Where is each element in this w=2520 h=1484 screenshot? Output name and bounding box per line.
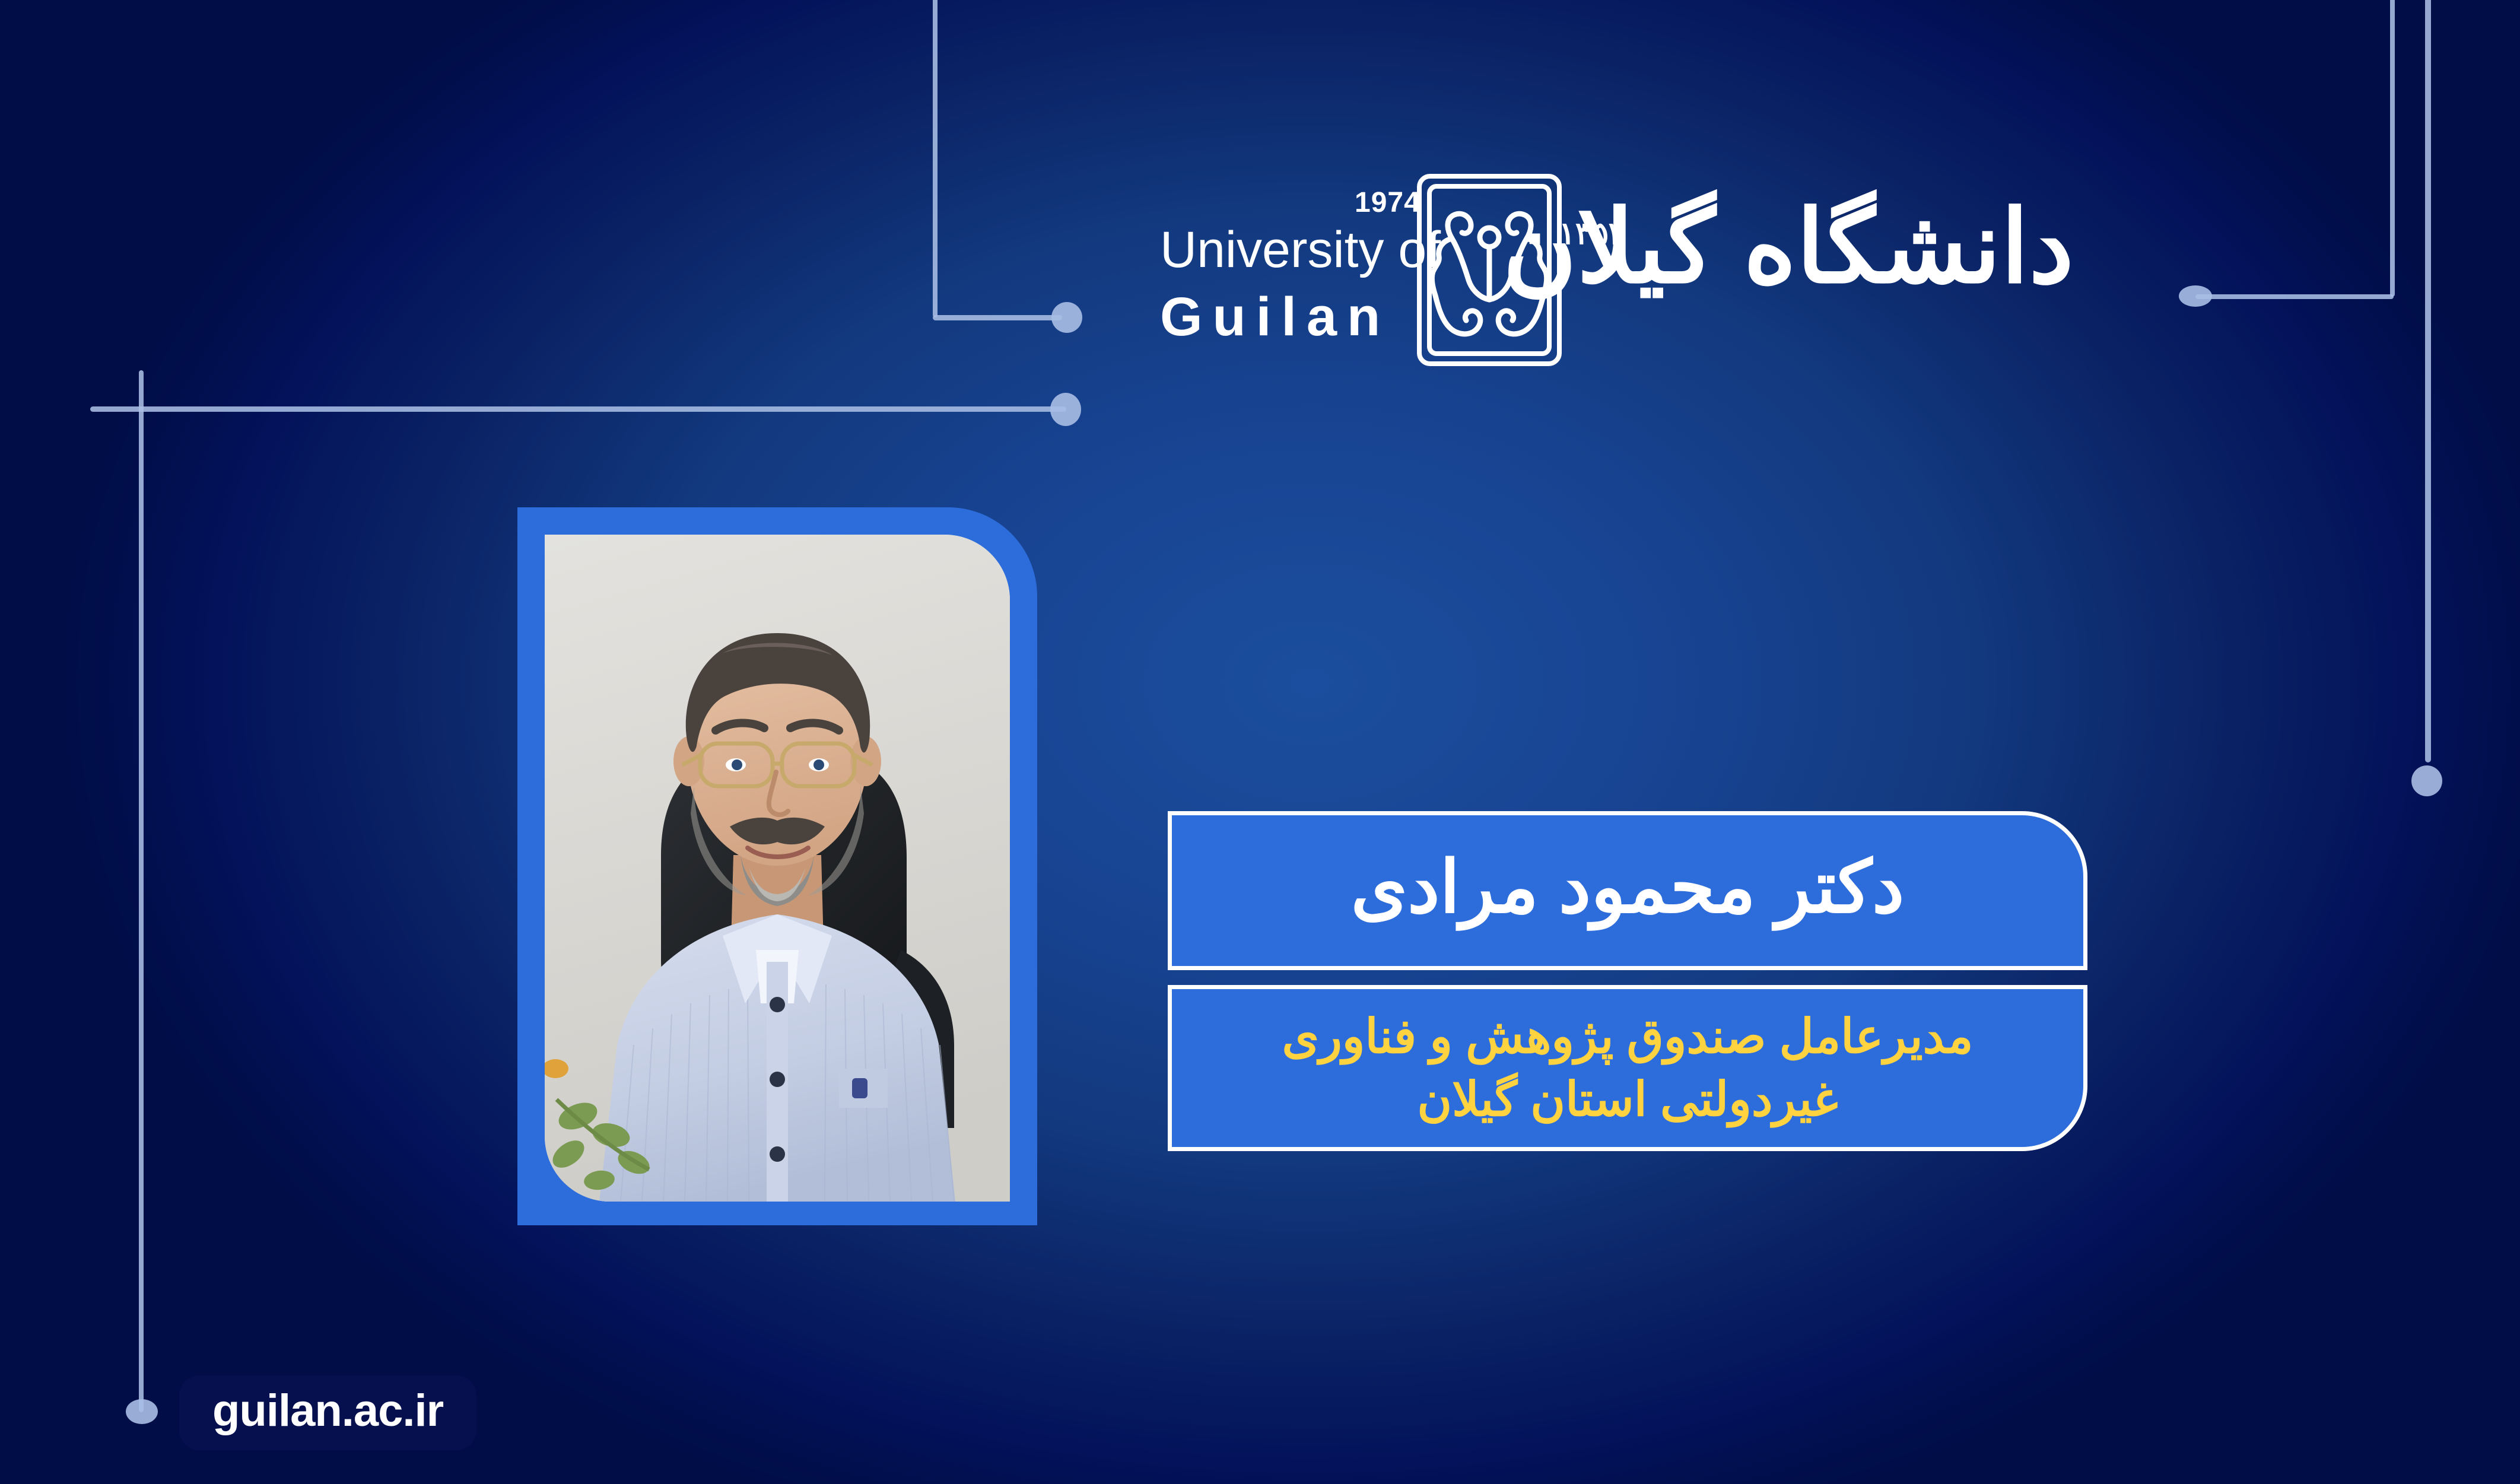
portrait-photo: [545, 535, 1010, 1202]
deco-vertical-line-right-far: [2425, 0, 2431, 762]
deco-dot-right-far: [2411, 765, 2442, 796]
deco-dot-left-horizontal-end: [1050, 393, 1081, 426]
deco-horizontal-line-left: [90, 406, 1066, 412]
person-name-card: دکتر محمود مرادی: [1168, 811, 2087, 970]
university-logo: University of Guilan 1974 ۱۳۵۳ دانشگاه گ…: [1160, 190, 2086, 386]
person-title-line2: غیردولتی استان گیلان: [1393, 1068, 1861, 1131]
person-name: دکتر محمود مرادی: [1351, 847, 1905, 927]
portrait-illustration: [545, 535, 1010, 1202]
logo-english-line2: Guilan: [1160, 290, 1441, 344]
logo-english-line1: University of: [1160, 224, 1441, 275]
deco-dot-right-top: [2179, 285, 2212, 307]
logo-english-text: University of Guilan: [1160, 224, 1441, 344]
logo-year-gregorian: 1974: [1355, 186, 1421, 219]
person-title-line1: مدیرعامل صندوق پژوهش و فناوری: [1259, 1005, 1997, 1068]
deco-dot-left-vertical-end: [126, 1399, 158, 1424]
deco-vertical-line-left: [139, 370, 144, 1412]
person-title-card: مدیرعامل صندوق پژوهش و فناوری غیردولتی ا…: [1168, 985, 2087, 1151]
deco-dot-top-center: [1051, 302, 1082, 333]
logo-persian-wordmark: دانشگاه گیلان: [1623, 170, 2074, 360]
poster-canvas: University of Guilan 1974 ۱۳۵۳ دانشگاه گ…: [0, 0, 2520, 1484]
deco-horizontal-line-top-center: [933, 315, 1062, 320]
website-url-chip[interactable]: guilan.ac.ir: [179, 1375, 476, 1450]
deco-horizontal-line-right-top: [2195, 294, 2394, 299]
portrait-frame: [517, 507, 1037, 1225]
deco-vertical-line-right-top: [2390, 0, 2395, 297]
deco-vertical-line-top-center: [933, 0, 938, 317]
